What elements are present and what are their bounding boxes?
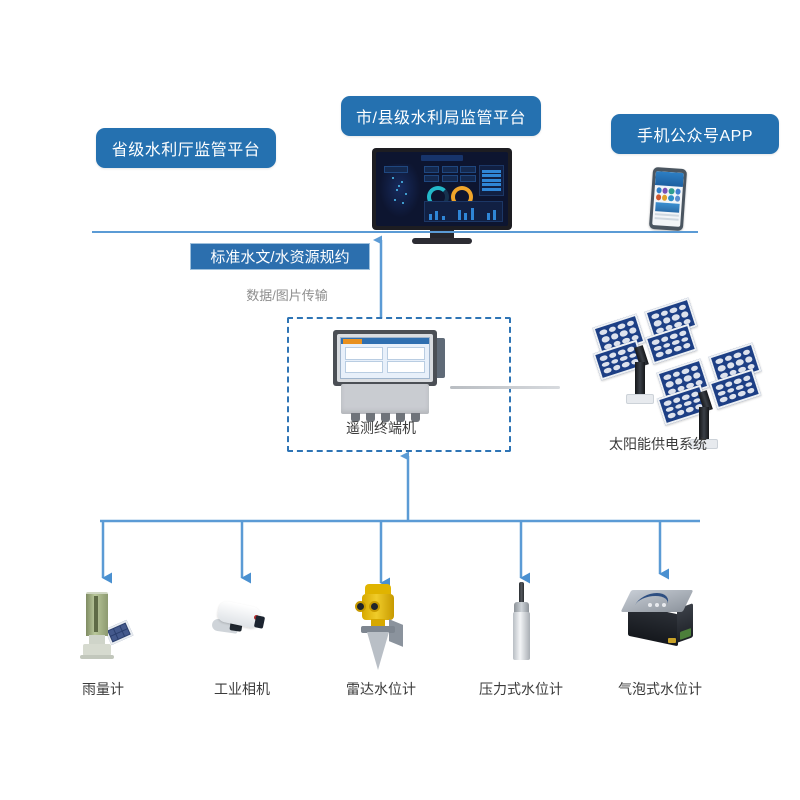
radar-horn-antenna	[367, 632, 389, 670]
transmission-label: 数据/图片传输	[232, 285, 342, 304]
platform-box-province[interactable]: 省级水利厅监管平台	[96, 128, 276, 168]
protocol-standard-label: 标准水文/水资源规约	[210, 246, 349, 267]
monitor-illustration	[372, 148, 512, 244]
backbone-line-top	[92, 231, 698, 233]
platform-label-mobile-app: 手机公众号APP	[637, 122, 753, 146]
rtu-antenna	[450, 386, 560, 389]
phone-screen	[652, 171, 684, 227]
dashboard-title-bar	[421, 155, 463, 161]
camera-lens	[254, 615, 265, 629]
platform-box-mobile-app[interactable]: 手机公众号APP	[611, 114, 779, 154]
probe-body	[513, 612, 530, 660]
phone-app-header	[655, 171, 684, 187]
smartphone-illustration	[651, 168, 685, 230]
monitor-bezel	[372, 148, 512, 230]
solar-power-caption: 太阳能供电系统	[588, 434, 728, 454]
protocol-standard-box: 标准水文/水资源规约	[190, 243, 370, 270]
rtu-enclosure-base	[341, 384, 429, 414]
diagram-canvas: 省级水利厅监管平台 市/县级水利局监管平台 手机公众号APP	[0, 0, 800, 800]
monitor-screen	[376, 152, 508, 226]
sensor-illustration-rain-gauge	[72, 588, 138, 664]
sensor-label-radar-level: 雷达水位计	[331, 679, 431, 699]
rtu-lid	[333, 330, 437, 386]
radar-port	[369, 601, 380, 612]
rtu-caption: 遥测终端机	[331, 418, 431, 438]
radar-port	[355, 601, 366, 612]
rain-gauge-solar-panel	[105, 620, 134, 645]
sensor-illustration-pressure-level	[495, 582, 549, 666]
phone-banner	[655, 202, 680, 212]
sensor-illustration-bubbler-level	[622, 586, 700, 656]
rtu-inner-frame	[337, 334, 433, 382]
sensor-label-industrial-camera: 工业相机	[192, 679, 292, 699]
sensor-illustration-industrial-camera	[208, 598, 274, 648]
bubbler-connector	[668, 638, 676, 643]
platform-label-province: 省级水利厅监管平台	[112, 136, 261, 160]
probe-cable	[519, 582, 524, 604]
monitor-foot	[412, 238, 472, 244]
sensor-label-bubbler-level: 气泡式水位计	[610, 679, 710, 699]
radar-bracket	[389, 619, 403, 647]
sensor-illustration-radar-level	[349, 582, 413, 672]
platform-box-city-county[interactable]: 市/县级水利局监管平台	[341, 96, 541, 136]
rtu-lcd-screen	[340, 337, 430, 379]
phone-icon-grid	[656, 187, 681, 202]
sensor-label-rain-gauge: 雨量计	[53, 679, 153, 699]
solar-post	[635, 362, 645, 396]
sensor-label-pressure-level: 压力式水位计	[471, 679, 571, 699]
solar-base	[626, 394, 654, 404]
platform-label-city-county: 市/县级水利局监管平台	[356, 104, 526, 128]
rtu-device-illustration	[333, 330, 453, 425]
phone-body	[649, 167, 687, 231]
